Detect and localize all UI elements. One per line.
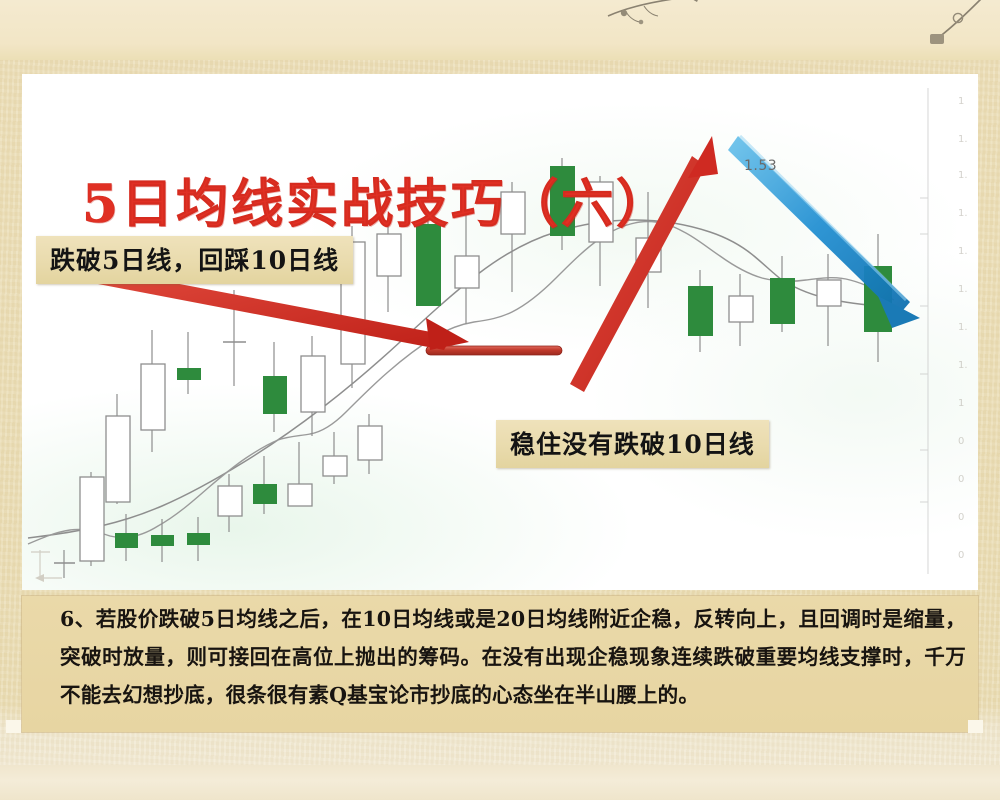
support-line-annotation	[426, 346, 562, 355]
svg-text:1: 1	[958, 398, 964, 409]
page-title: 5日均线实战技巧（六）	[82, 162, 671, 237]
candle	[106, 394, 130, 504]
candle	[141, 330, 165, 452]
candle	[218, 474, 242, 532]
left-axis-stub	[31, 550, 62, 582]
candle	[729, 274, 753, 346]
svg-text:0: 0	[958, 550, 964, 561]
price-tick-label: 1.53	[744, 158, 777, 174]
candle	[177, 332, 201, 394]
price-axis-right: 1 1. 1. 1. 1. 1. 1. 1. 1 0 0 0 0	[920, 88, 968, 574]
callout-break-ma5: 跌破5日线，回踩10日线	[36, 236, 353, 284]
top-decorative-band	[0, 0, 1000, 60]
candle	[80, 472, 104, 566]
bottom-decorative-band	[0, 765, 1000, 800]
candle	[817, 254, 841, 346]
candle	[688, 270, 713, 352]
candle	[358, 414, 382, 474]
panel-nub-right	[968, 720, 983, 733]
svg-text:1.: 1.	[958, 360, 968, 371]
svg-text:1.: 1.	[958, 170, 968, 181]
candle	[263, 342, 287, 432]
candle	[770, 256, 795, 332]
svg-text:1: 1	[958, 96, 964, 107]
candle	[253, 456, 277, 514]
svg-text:1.: 1.	[958, 134, 968, 145]
candle	[288, 442, 312, 506]
candle	[151, 519, 174, 562]
svg-text:0: 0	[958, 512, 964, 523]
candle	[187, 517, 210, 561]
candle	[54, 550, 75, 578]
explanatory-text: 6、若股价跌破5日均线之后，在10日均线或是20日均线附近企稳，反转向上，且回调…	[60, 600, 966, 714]
candlestick-chart-panel: 1 1. 1. 1. 1. 1. 1. 1. 1 0 0 0 0	[22, 74, 978, 590]
svg-text:0: 0	[958, 436, 964, 447]
svg-text:1.: 1.	[958, 322, 968, 333]
page-root: 1 1. 1. 1. 1. 1. 1. 1. 1 0 0 0 0	[0, 0, 1000, 800]
panel-nub-left	[6, 720, 21, 733]
svg-text:1.: 1.	[958, 208, 968, 219]
candlestick-chart-svg: 1 1. 1. 1. 1. 1. 1. 1. 1 0 0 0 0	[22, 74, 978, 590]
svg-text:1.: 1.	[958, 246, 968, 257]
explanatory-text-panel: 6、若股价跌破5日均线之后，在10日均线或是20日均线附近企稳，反转向上，且回调…	[22, 596, 978, 732]
svg-text:0: 0	[958, 474, 964, 485]
svg-text:1.: 1.	[958, 284, 968, 295]
callout-hold-ma10: 稳住没有跌破10日线	[496, 420, 769, 468]
candle	[323, 432, 347, 484]
